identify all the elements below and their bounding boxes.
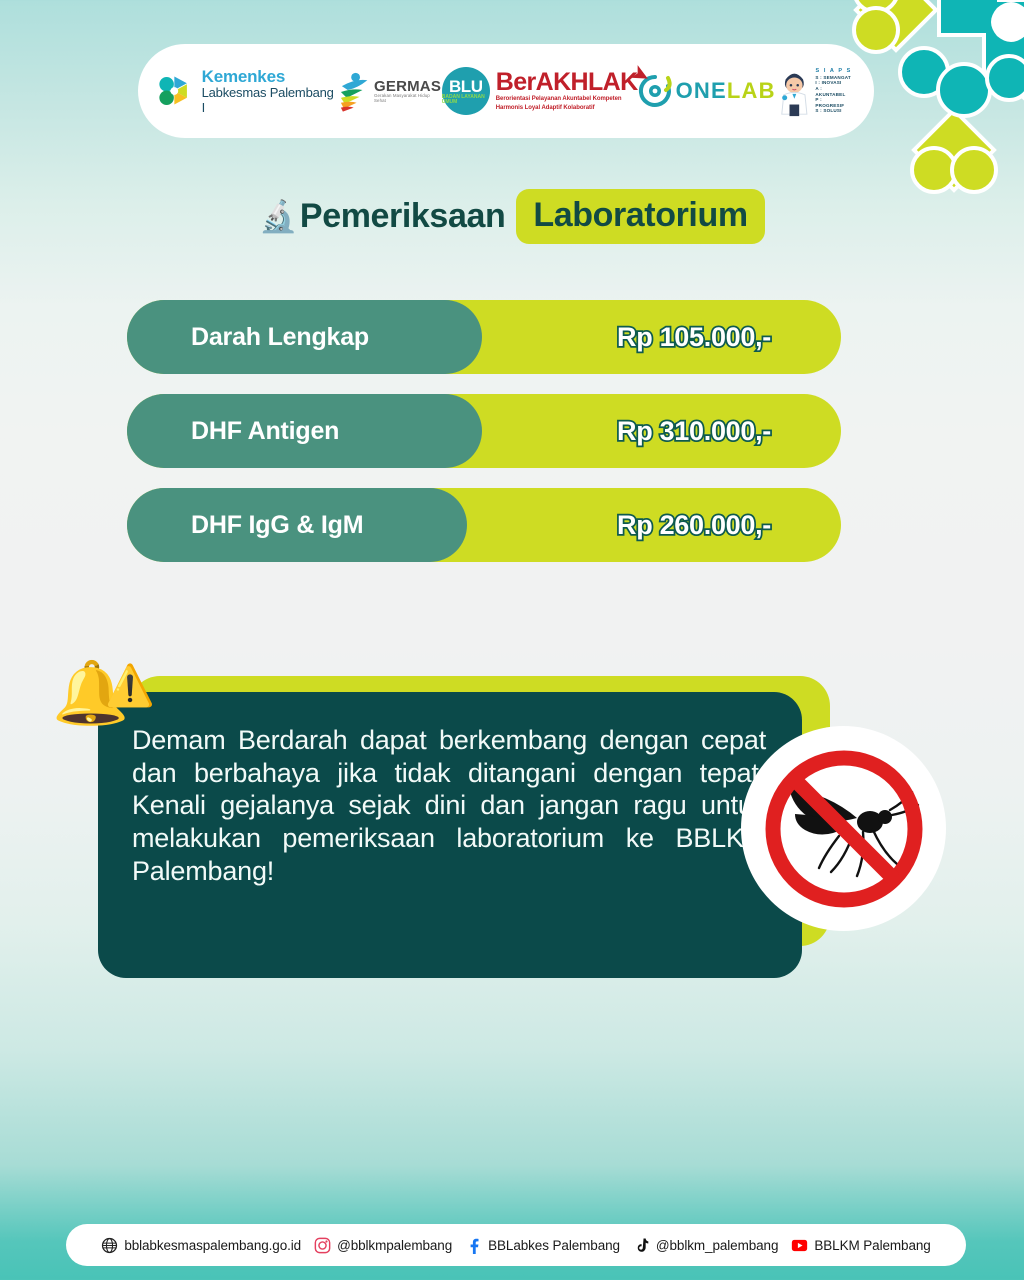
price-row-name: Darah Lengkap bbox=[127, 300, 482, 374]
kemenkes-flower-logo-icon bbox=[156, 71, 195, 111]
microscope-icon: 🔬 bbox=[259, 201, 298, 232]
footer-item-tiktok[interactable]: @bblkm_palembang bbox=[633, 1237, 778, 1254]
price-list: Darah Lengkap Rp 105.000,- DHF Antigen R… bbox=[127, 300, 841, 582]
footer-item-instagram[interactable]: @bblkmpalembang bbox=[314, 1237, 452, 1254]
price-row: DHF Antigen Rp 310.000,- bbox=[127, 394, 841, 468]
price-row-value: Rp 105.000,- bbox=[617, 300, 771, 374]
footer-contact-bar: bblabkesmaspalembang.go.id @bblkmpalemba… bbox=[66, 1224, 966, 1266]
partner-logo-bar: Kemenkes Labkesmas Palembang I GERMAS Ge… bbox=[138, 44, 874, 138]
logo-germas: GERMAS Gerakan Masyarakat Hidup Sehat bbox=[336, 70, 442, 112]
kemenkes-subtitle: Labkesmas Palembang I bbox=[202, 86, 336, 115]
germas-figure-logo-icon bbox=[336, 70, 371, 112]
siaps-header: S I A P S bbox=[815, 68, 852, 75]
no-mosquito-icon bbox=[741, 726, 946, 931]
price-row: Darah Lengkap Rp 105.000,- bbox=[127, 300, 841, 374]
logo-siaps: S I A P S S : SEMANGAT I : INOVASI A : A… bbox=[776, 65, 852, 117]
info-card-text: Demam Berdarah dapat berkembang dengan c… bbox=[132, 724, 766, 920]
footer-website-text: bblabkesmaspalembang.go.id bbox=[124, 1238, 301, 1253]
siaps-item-3: P : PROGRESIF bbox=[815, 97, 852, 108]
blu-title: BLU bbox=[449, 78, 482, 95]
germas-tagline: Gerakan Masyarakat Hidup Sehat bbox=[374, 94, 442, 103]
onelab-title-one: ONE bbox=[676, 78, 727, 103]
footer-facebook-text: BBLabkes Palembang bbox=[488, 1238, 620, 1253]
warning-triangle-icon: ⚠️ bbox=[105, 666, 155, 706]
youtube-icon bbox=[791, 1237, 808, 1254]
logo-blu: BLU BADAN LAYANAN UMUM bbox=[442, 67, 490, 115]
price-row: DHF IgG & IgM Rp 260.000,- bbox=[127, 488, 841, 562]
logo-onelab: ONELAB bbox=[638, 74, 776, 108]
page-title-highlight: Laboratorium bbox=[516, 189, 764, 244]
footer-tiktok-text: @bblkm_palembang bbox=[656, 1238, 778, 1253]
price-row-name: DHF Antigen bbox=[127, 394, 482, 468]
footer-item-youtube[interactable]: BBLKM Palembang bbox=[791, 1237, 930, 1254]
onelab-title-lab: LAB bbox=[727, 78, 776, 103]
footer-item-facebook[interactable]: BBLabkes Palembang bbox=[465, 1237, 620, 1254]
berakhlak-title: BerAKHLAK bbox=[496, 70, 638, 95]
globe-icon bbox=[101, 1237, 118, 1254]
footer-instagram-text: @bblkmpalembang bbox=[337, 1238, 452, 1253]
blu-circle-logo-icon: BLU BADAN LAYANAN UMUM bbox=[442, 67, 490, 115]
instagram-icon bbox=[314, 1237, 331, 1254]
blu-subtitle: BADAN LAYANAN UMUM bbox=[442, 95, 490, 105]
footer-youtube-text: BBLKM Palembang bbox=[814, 1238, 930, 1253]
logo-berakhlak: ➤ BerAKHLAK Berorientasi Pelayanan Akunt… bbox=[490, 70, 638, 111]
siaps-item-2: A : AKUNTABEL bbox=[815, 86, 852, 97]
page-title: Pemeriksaan bbox=[300, 197, 505, 236]
price-row-value: Rp 260.000,- bbox=[617, 488, 771, 562]
logo-kemenkes: Kemenkes Labkesmas Palembang I bbox=[156, 67, 336, 115]
info-card: Demam Berdarah dapat berkembang dengan c… bbox=[98, 692, 802, 978]
price-row-value: Rp 310.000,- bbox=[617, 394, 771, 468]
footer-item-website[interactable]: bblabkesmaspalembang.go.id bbox=[101, 1237, 301, 1254]
facebook-icon bbox=[465, 1237, 482, 1254]
siaps-item-4: S : SOLUSI bbox=[815, 108, 852, 114]
germas-title: GERMAS bbox=[374, 79, 442, 95]
tiktok-icon bbox=[633, 1237, 650, 1254]
siaps-mascot-icon bbox=[776, 65, 813, 117]
berakhlak-tagline-2: Harmonis Loyal Adaptif Kolaboratif bbox=[496, 104, 638, 112]
kemenkes-title: Kemenkes bbox=[202, 67, 336, 86]
berakhlak-tagline-1: Berorientasi Pelayanan Akuntabel Kompete… bbox=[496, 95, 638, 103]
price-row-name: DHF IgG & IgM bbox=[127, 488, 467, 562]
section-title: 🔬 Pemeriksaan Laboratorium bbox=[0, 189, 1024, 244]
